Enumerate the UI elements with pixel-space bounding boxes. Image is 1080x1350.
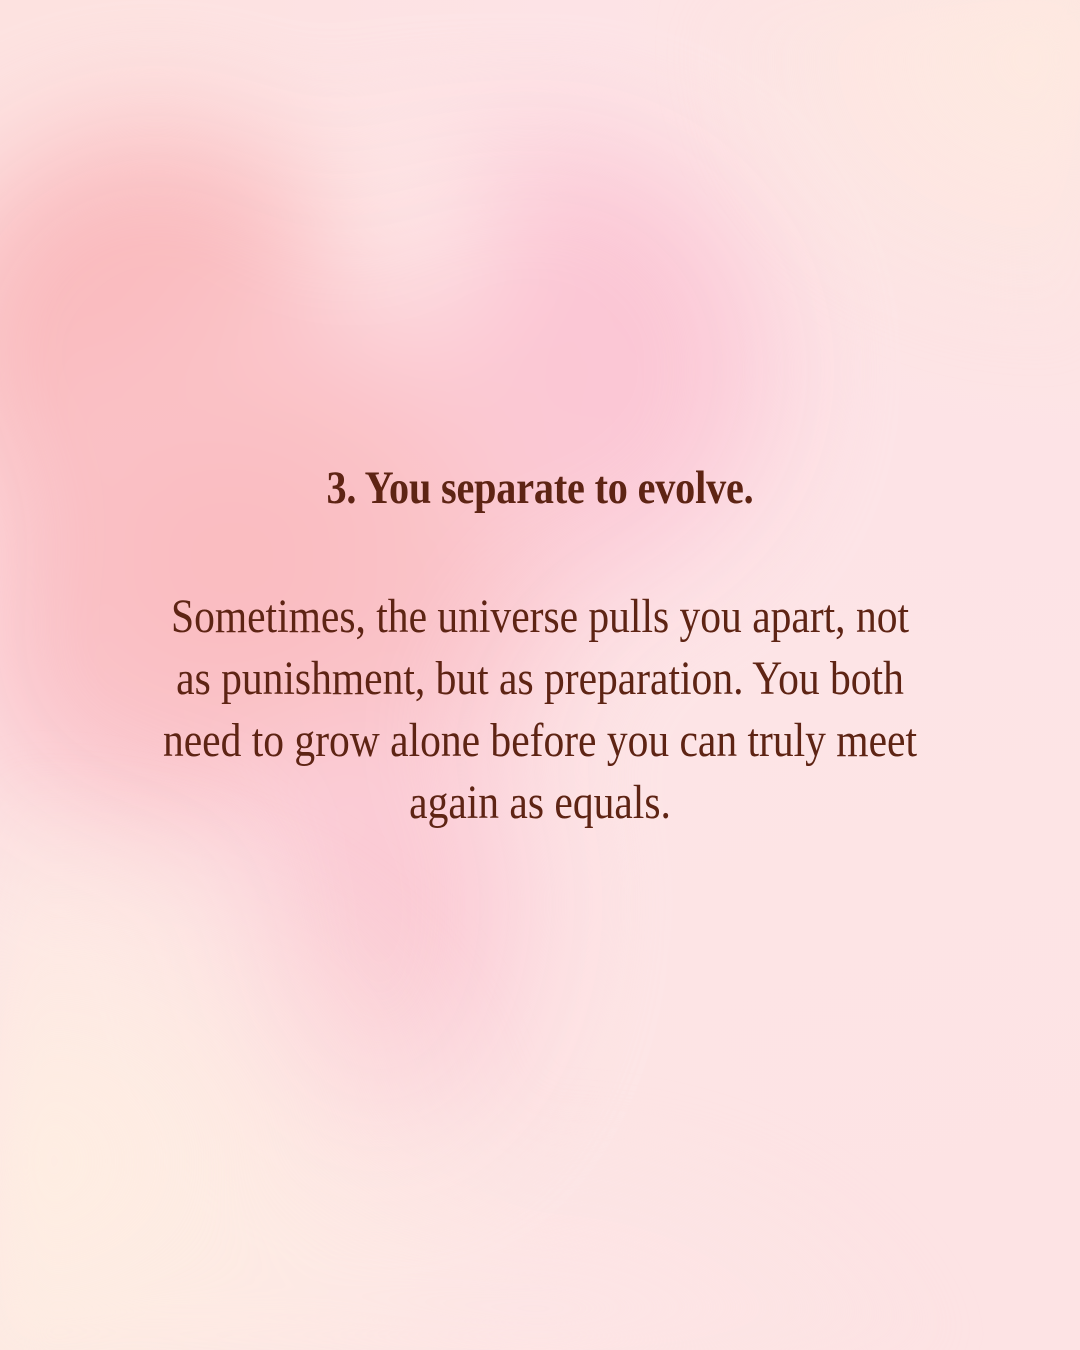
quote-headline: 3. You separate to evolve. [78, 463, 1001, 514]
quote-card: 3. You separate to evolve. Sometimes, th… [0, 0, 1080, 1350]
quote-body: Sometimes, the universe pulls you apart,… [151, 586, 930, 834]
text-layer: 3. You separate to evolve. Sometimes, th… [0, 0, 1080, 1350]
